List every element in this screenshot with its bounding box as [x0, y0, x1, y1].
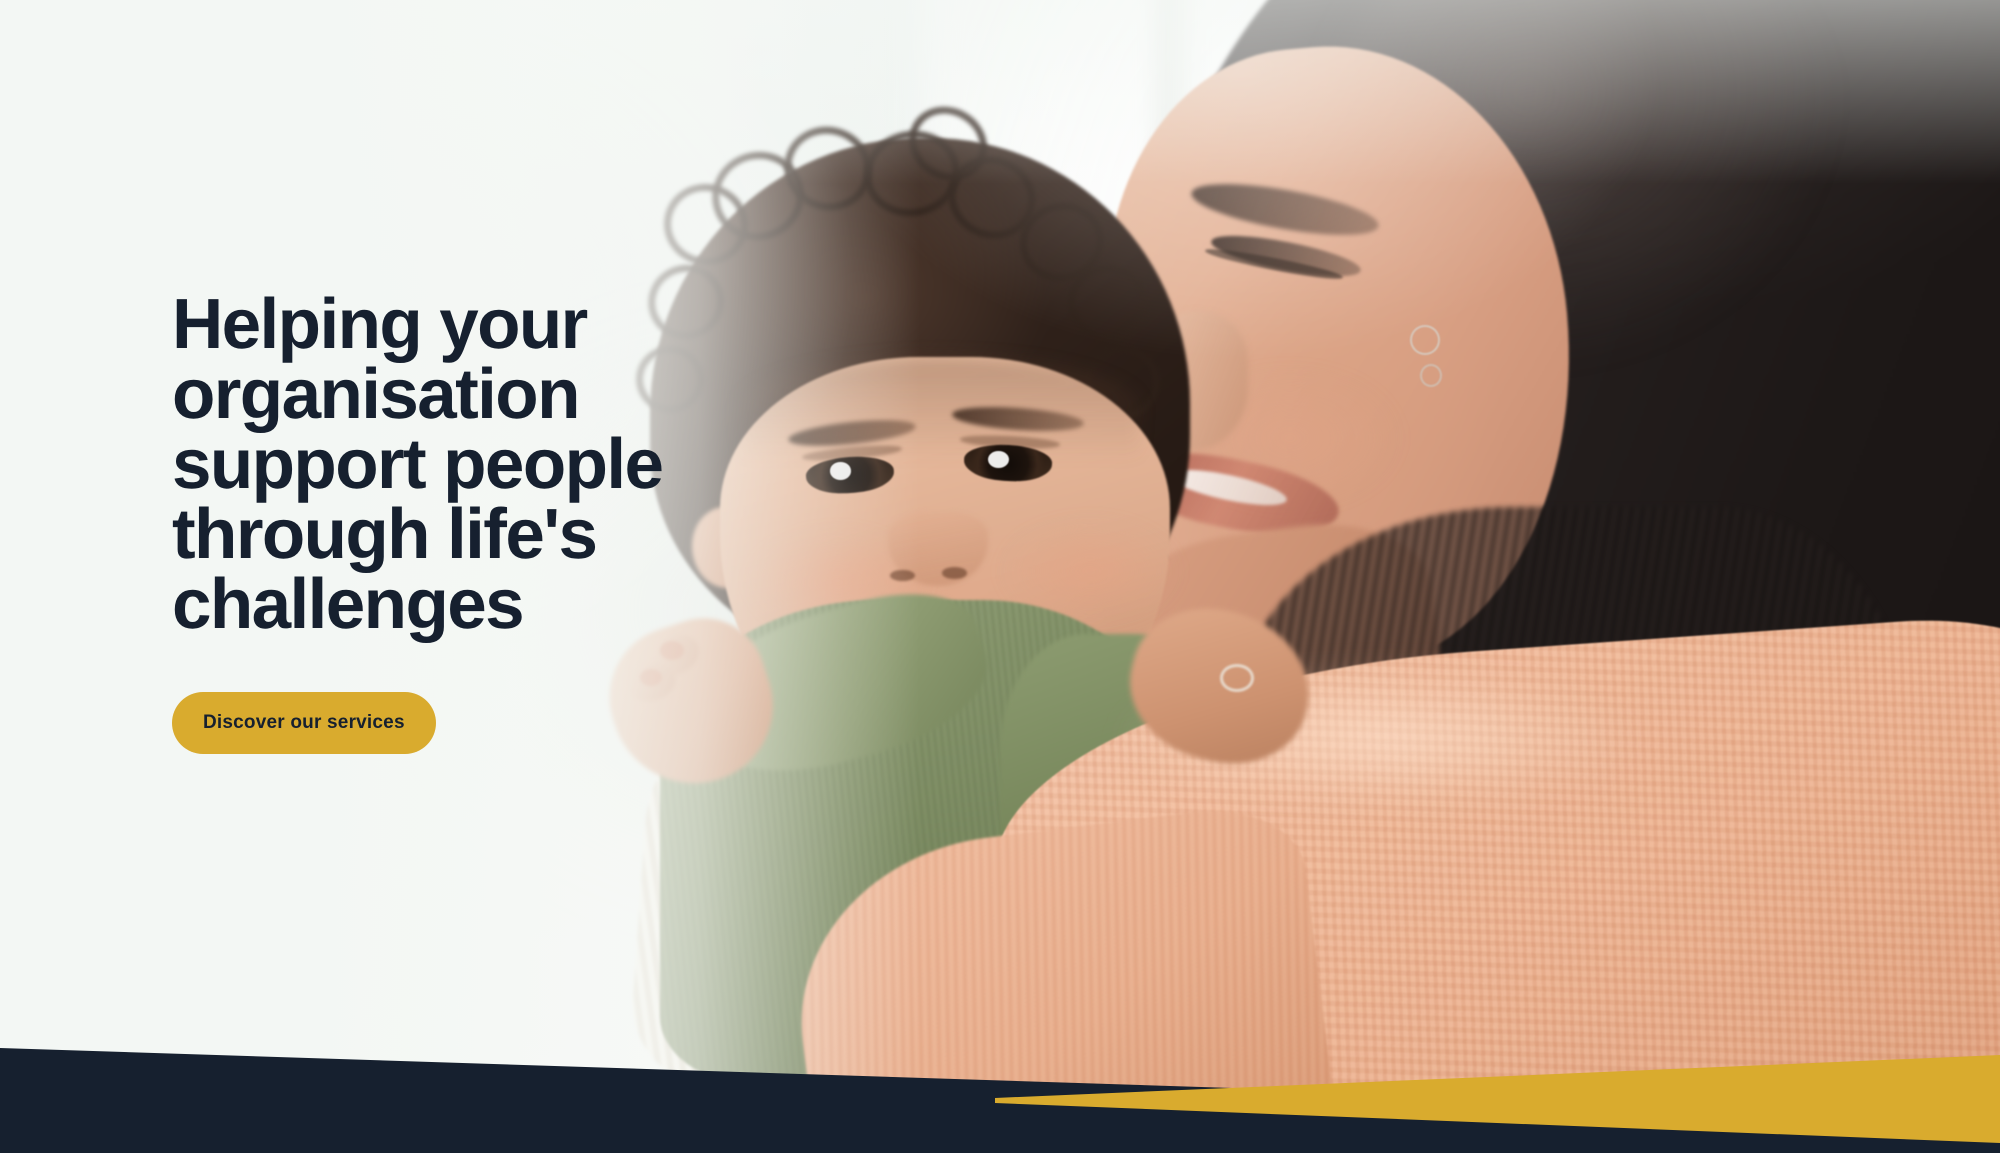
- page-title: Helping your organisation support people…: [172, 290, 692, 640]
- discover-our-services-button[interactable]: Discover our services: [172, 692, 436, 754]
- hero-banner: Helping your organisation support people…: [0, 0, 2000, 1153]
- hero-cta-wrapper: Discover our services: [172, 692, 692, 754]
- mother-earring-upper: [1410, 325, 1440, 355]
- baby-eye-glint-left: [830, 462, 851, 479]
- baby-nostril-right: [942, 567, 967, 579]
- baby-nostril-left: [890, 570, 915, 582]
- baby-forehead-shadow: [740, 357, 1140, 461]
- hero-content: Helping your organisation support people…: [172, 290, 692, 754]
- baby-eye-glint-right: [988, 451, 1009, 468]
- mother-ring: [1220, 664, 1254, 692]
